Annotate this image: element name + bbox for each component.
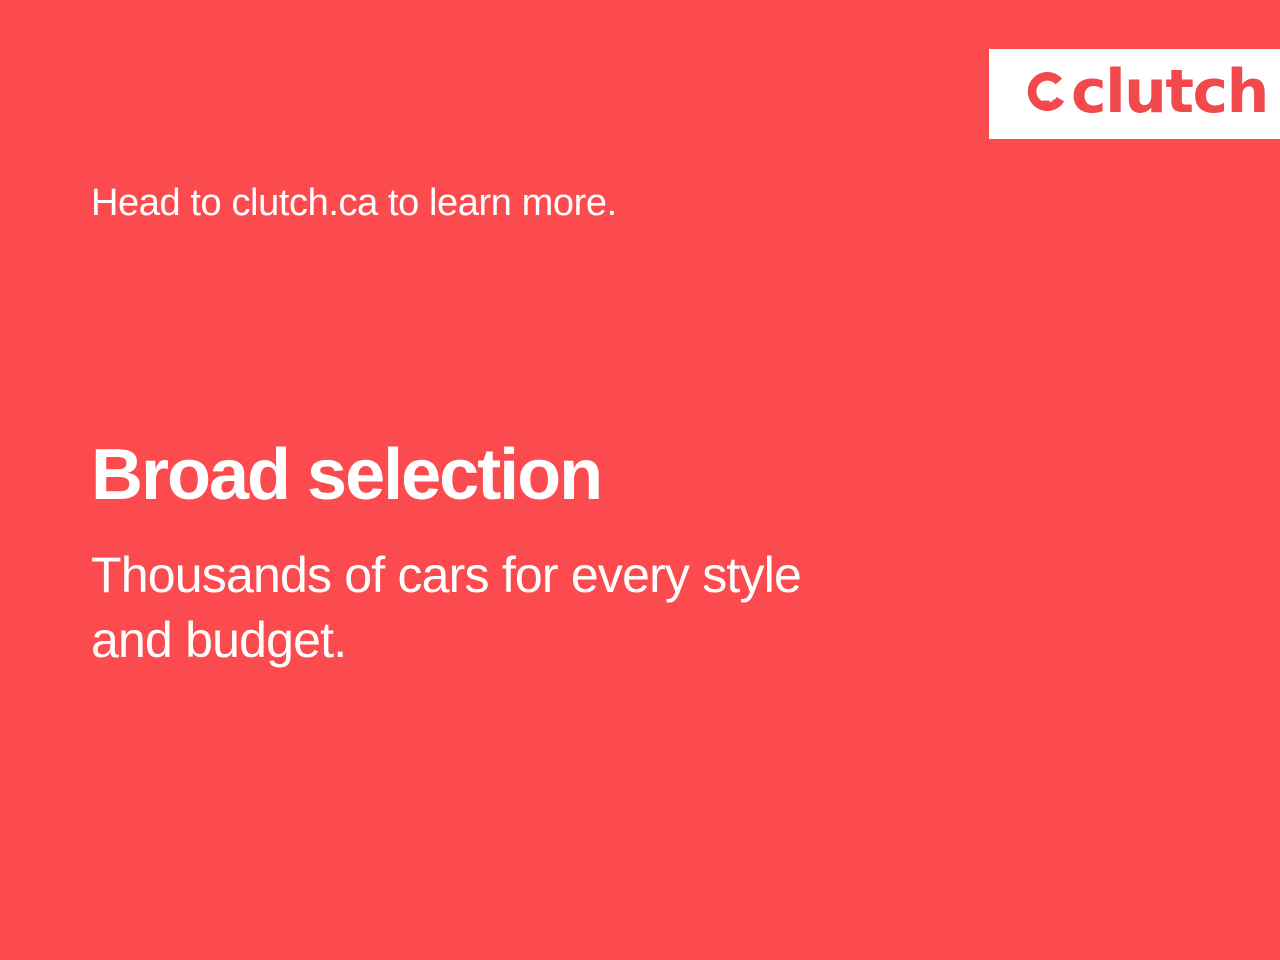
logo-plate: clutch bbox=[989, 49, 1280, 139]
headline: Broad selection bbox=[91, 438, 601, 514]
clutch-c-mark-icon bbox=[1025, 72, 1069, 116]
subheadline: Thousands of cars for every style and bu… bbox=[91, 543, 1021, 673]
subheadline-line-1: Thousands of cars for every style bbox=[91, 543, 1021, 608]
logo-wordmark: clutch bbox=[1071, 62, 1268, 122]
clutch-logo[interactable]: clutch bbox=[1025, 64, 1268, 124]
slide-canvas: clutch Head to clutch.ca to learn more. … bbox=[0, 0, 1280, 960]
subheadline-line-2: and budget. bbox=[91, 608, 1021, 673]
eyebrow-text: Head to clutch.ca to learn more. bbox=[91, 182, 617, 226]
